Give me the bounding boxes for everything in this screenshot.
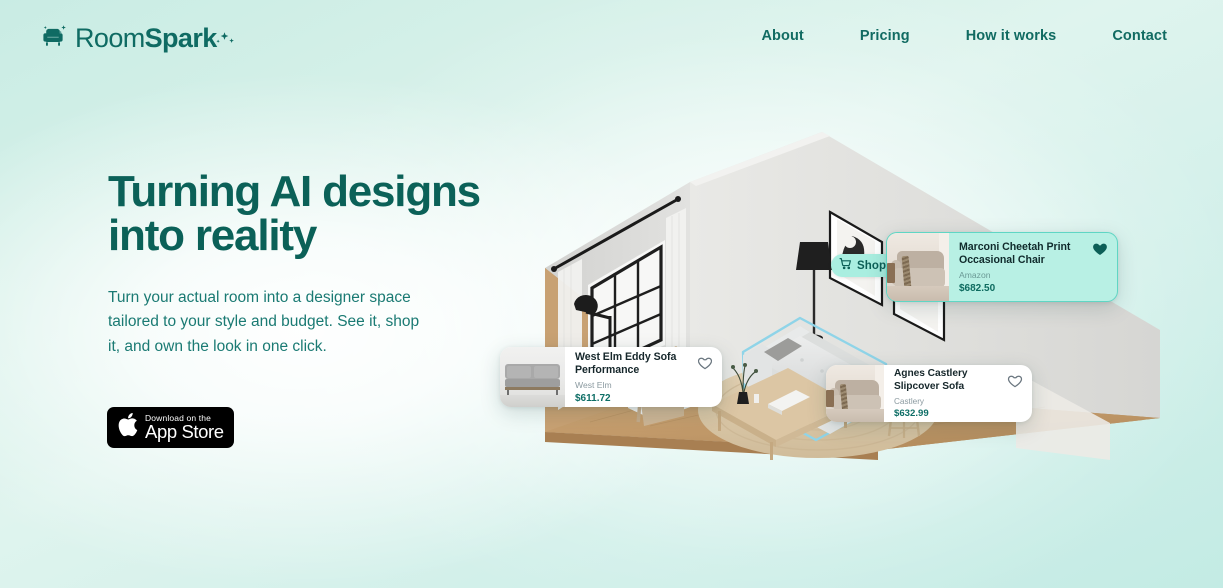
brand-name: RoomSpark <box>75 25 217 52</box>
page-title: Turning AI designs into reality <box>108 170 528 258</box>
product-info-agnes: Agnes Castlery Slipcover Sofa Castlery $… <box>884 365 1032 422</box>
product-price: $632.99 <box>894 409 1023 420</box>
hero-copy-block: Turning AI designs into reality Turn you… <box>108 170 528 359</box>
product-thumbnail-westelm <box>500 347 565 407</box>
shopping-cart-icon <box>839 257 852 275</box>
nav-link-about[interactable]: About <box>733 22 831 50</box>
product-price: $611.72 <box>575 393 713 404</box>
site-header: RoomSpark About Pricing How it works Con… <box>0 0 1223 66</box>
heart-filled-icon[interactable] <box>1092 241 1108 257</box>
product-title: Marconi Cheetah Print Occasional Chair <box>959 241 1108 267</box>
brand-name-bold: Spark <box>145 23 217 53</box>
product-title: West Elm Eddy Sofa Performance <box>575 351 713 377</box>
product-thumbnail-agnes <box>826 365 884 422</box>
heart-outline-icon[interactable] <box>1007 373 1023 389</box>
product-info-westelm: West Elm Eddy Sofa Performance West Elm … <box>565 347 722 407</box>
app-store-labels: Download on the App Store <box>145 414 224 442</box>
product-brand: Amazon <box>959 271 1108 280</box>
hero-subtitle: Turn your actual room into a designer sp… <box>108 286 473 359</box>
main-navigation: About Pricing How it works Contact <box>733 22 1195 50</box>
product-thumbnail-marconi <box>887 233 949 301</box>
nav-link-contact[interactable]: Contact <box>1084 22 1195 50</box>
brand-logo[interactable]: RoomSpark <box>38 21 217 56</box>
page-background: RoomSpark About Pricing How it works Con… <box>0 0 1223 588</box>
app-store-big-label: App Store <box>145 423 224 442</box>
shop-badge-label: Shop <box>857 260 886 272</box>
app-store-download-button[interactable]: Download on the App Store <box>107 407 234 448</box>
product-info-marconi: Marconi Cheetah Print Occasional Chair A… <box>949 233 1117 301</box>
nav-link-how-it-works[interactable]: How it works <box>938 22 1085 50</box>
apple-logo-icon <box>117 412 138 442</box>
product-brand: West Elm <box>575 381 713 390</box>
product-price: $682.50 <box>959 283 1108 294</box>
product-title: Agnes Castlery Slipcover Sofa <box>894 368 1023 393</box>
heart-outline-icon[interactable] <box>697 355 713 371</box>
armchair-sparkle-icon <box>38 21 68 56</box>
product-card-westelm[interactable]: West Elm Eddy Sofa Performance West Elm … <box>500 347 722 407</box>
product-card-marconi[interactable]: Marconi Cheetah Print Occasional Chair A… <box>886 232 1118 302</box>
brand-name-light: Room <box>75 23 145 53</box>
product-card-agnes[interactable]: Agnes Castlery Slipcover Sofa Castlery $… <box>826 365 1032 422</box>
nav-link-pricing[interactable]: Pricing <box>832 22 938 50</box>
product-brand: Castlery <box>894 397 1023 406</box>
